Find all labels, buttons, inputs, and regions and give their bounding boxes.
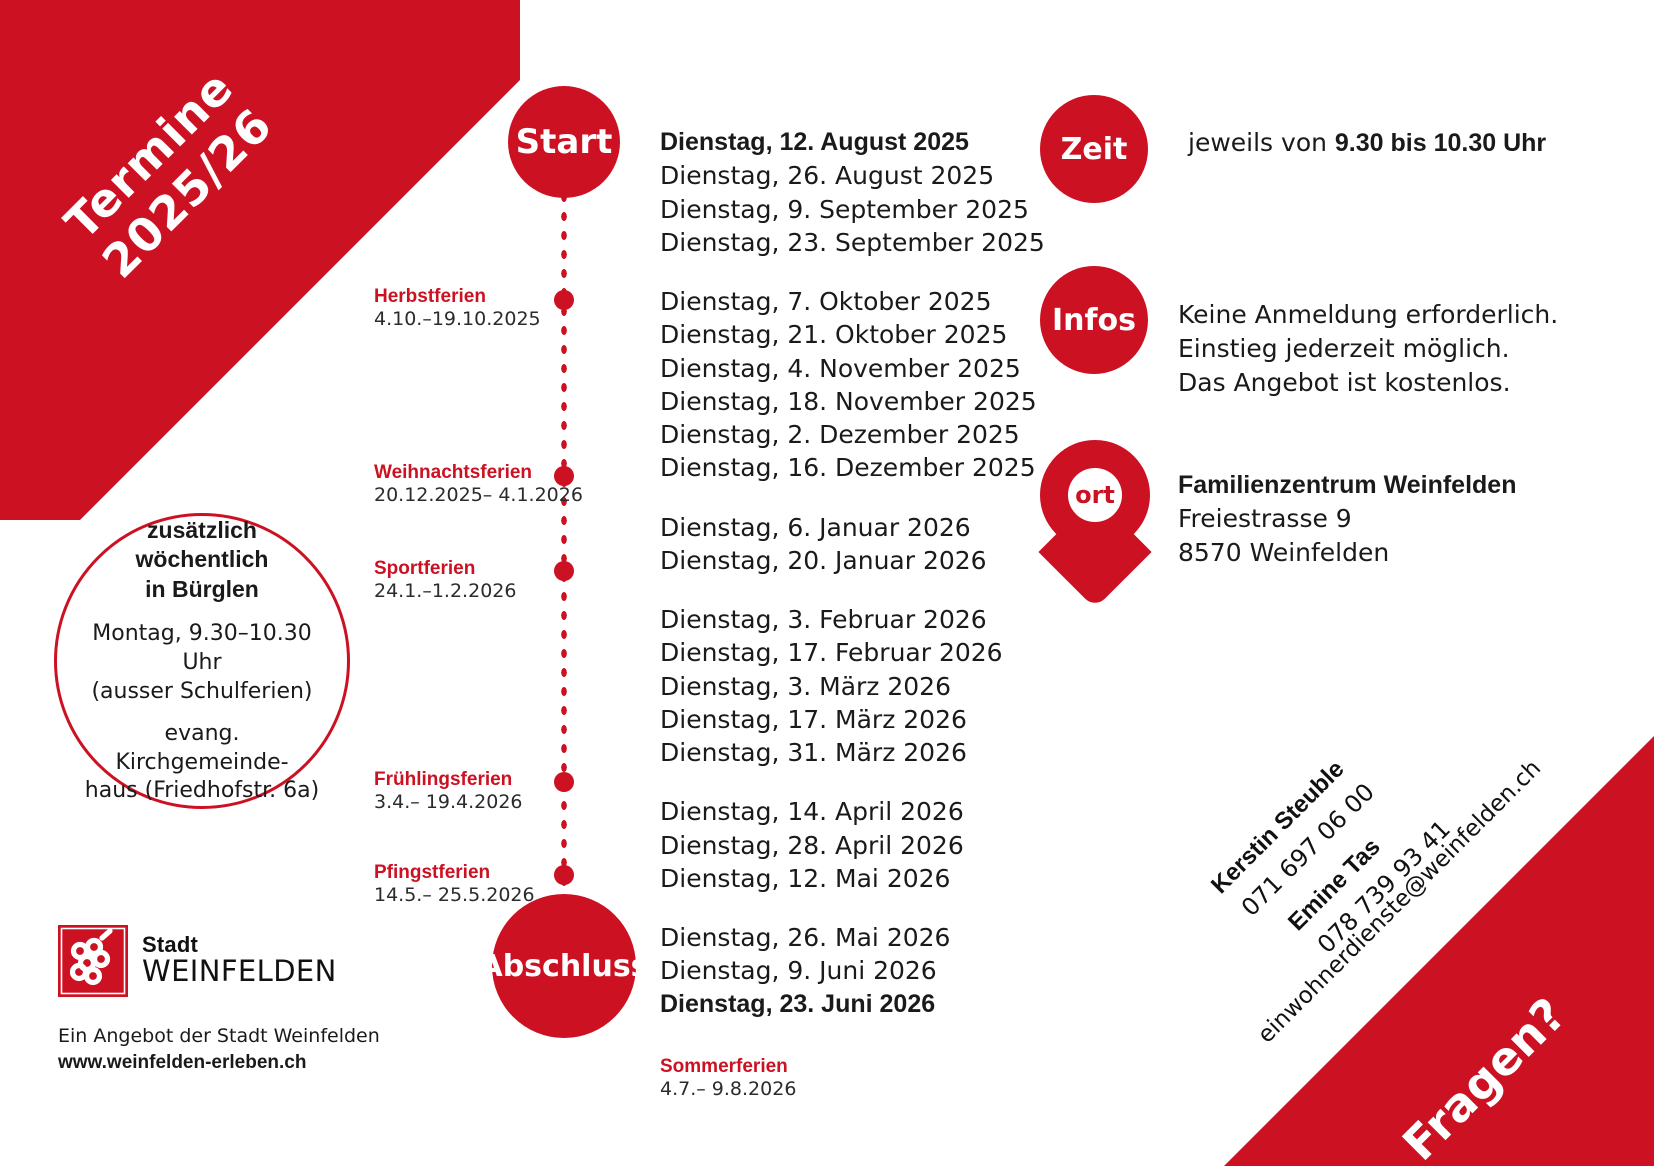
- logo-city-label: WEINFELDEN: [142, 956, 337, 988]
- date-item: Dienstag, 7. Oktober 2025: [660, 285, 1020, 318]
- top-left-corner-banner: Termine 2025/26: [0, 0, 520, 520]
- date-item: Dienstag, 31. März 2026: [660, 736, 1020, 769]
- date-group: Dienstag, 6. Januar 2026 Dienstag, 20. J…: [660, 511, 1020, 578]
- infos-line: Keine Anmeldung erforderlich.: [1178, 298, 1558, 332]
- grapes-icon: [58, 925, 128, 997]
- timeline-end-badge: Abschluss: [492, 894, 636, 1038]
- date-group: Dienstag, 26. Mai 2026 Dienstag, 9. Juni…: [660, 921, 1020, 1021]
- holiday-dates: 3.4.– 19.4.2026: [374, 791, 523, 813]
- ort-badge-label: ort: [1068, 468, 1122, 522]
- footer-offer-line: Ein Angebot der Stadt Weinfelden: [58, 1024, 380, 1050]
- infos-badge-label: Infos: [1052, 303, 1136, 338]
- date-item: Dienstag, 17. März 2026: [660, 703, 1020, 736]
- date-item: Dienstag, 23. Juni 2026: [660, 988, 1020, 1021]
- holiday-name: Sportferien: [374, 558, 516, 580]
- zeit-info-block: jeweils von 9.30 bis 10.30 Uhr: [1188, 126, 1546, 160]
- timeline-node-fruehlingsferien: [554, 772, 574, 792]
- holiday-sportferien: Sportferien 24.1.–1.2.2026: [374, 558, 516, 603]
- date-item: Dienstag, 16. Dezember 2025: [660, 451, 1020, 484]
- infos-badge: Infos: [1040, 266, 1148, 374]
- holiday-name: Frühlingsferien: [374, 769, 523, 791]
- date-item: Dienstag, 17. Februar 2026: [660, 636, 1020, 669]
- date-item: Dienstag, 3. Februar 2026: [660, 603, 1020, 636]
- buerglen-title-line: wöchentlich: [136, 545, 269, 574]
- date-item: Dienstag, 12. Mai 2026: [660, 862, 1020, 895]
- footer-website-link[interactable]: www.weinfelden-erleben.ch: [58, 1050, 380, 1076]
- buerglen-time-line: (ausser Schulferien): [91, 678, 312, 707]
- date-group: Dienstag, 12. August 2025 Dienstag, 26. …: [660, 126, 1020, 259]
- date-group: Dienstag, 3. Februar 2026 Dienstag, 17. …: [660, 603, 1020, 769]
- ort-street: Freiestrasse 9: [1178, 502, 1516, 536]
- date-item: Dienstag, 9. Juni 2026: [660, 954, 1020, 987]
- ort-city: 8570 Weinfelden: [1178, 536, 1516, 570]
- holiday-name: Herbstferien: [374, 286, 541, 308]
- zeit-value: 9.30 bis 10.30 Uhr: [1335, 129, 1546, 157]
- buerglen-venue-line: evang. Kirchgemeinde-: [75, 720, 329, 777]
- date-item: Dienstag, 26. August 2025: [660, 159, 1020, 192]
- holiday-name: Pfingstferien: [374, 862, 535, 884]
- date-item: Dienstag, 2. Dezember 2025: [660, 418, 1020, 451]
- timeline-start-label: Start: [516, 122, 613, 162]
- date-item: Dienstag, 23. September 2025: [660, 226, 1020, 259]
- buerglen-title-line: zusätzlich: [136, 516, 269, 545]
- buerglen-extra-offer-circle: zusätzlich wöchentlich in Bürglen Montag…: [54, 513, 350, 809]
- date-item: Dienstag, 3. März 2026: [660, 670, 1020, 703]
- date-item: Dienstag, 26. Mai 2026: [660, 921, 1020, 954]
- zeit-badge-label: Zeit: [1061, 132, 1128, 167]
- holiday-dates: 24.1.–1.2.2026: [374, 580, 516, 602]
- appointment-date-list: Dienstag, 12. August 2025 Dienstag, 26. …: [660, 126, 1020, 1047]
- date-item: Dienstag, 28. April 2026: [660, 829, 1020, 862]
- logo-wordmark: Stadt WEINFELDEN: [142, 934, 337, 988]
- timeline-node-herbstferien: [554, 290, 574, 310]
- timeline-start-badge: Start: [508, 86, 620, 198]
- holiday-name: Weihnachtsferien: [374, 462, 583, 484]
- date-group: Dienstag, 7. Oktober 2025 Dienstag, 21. …: [660, 285, 1020, 485]
- corner-wedge-shape: [1154, 706, 1654, 1166]
- city-logo: Stadt WEINFELDEN: [58, 925, 337, 997]
- date-item: Dienstag, 4. November 2025: [660, 352, 1020, 385]
- zeit-text: jeweils von 9.30 bis 10.30 Uhr: [1188, 126, 1546, 160]
- holiday-dates: 4.10.–19.10.2025: [374, 308, 541, 330]
- buerglen-title: zusätzlich wöchentlich in Bürglen: [136, 516, 269, 604]
- holiday-dates: 20.12.2025– 4.1.2026: [374, 484, 583, 506]
- date-group: Dienstag, 14. April 2026 Dienstag, 28. A…: [660, 795, 1020, 895]
- buerglen-title-line: in Bürglen: [136, 575, 269, 604]
- holiday-weihnachtsferien: Weihnachtsferien 20.12.2025– 4.1.2026: [374, 462, 583, 507]
- infos-info-block: Keine Anmeldung erforderlich. Einstieg j…: [1178, 298, 1558, 400]
- date-item: Dienstag, 9. September 2025: [660, 193, 1020, 226]
- footer-credits: Ein Angebot der Stadt Weinfelden www.wei…: [58, 1024, 380, 1076]
- location-pin-icon: ort: [1040, 440, 1150, 605]
- holiday-dates: 4.7.– 9.8.2026: [660, 1078, 796, 1100]
- holiday-herbstferien: Herbstferien 4.10.–19.10.2025: [374, 286, 541, 331]
- holiday-sommerferien: Sommerferien 4.7.– 9.8.2026: [660, 1056, 796, 1101]
- timeline-end-label: Abschluss: [479, 949, 648, 984]
- date-item: Dienstag, 20. Januar 2026: [660, 544, 1020, 577]
- date-item: Dienstag, 12. August 2025: [660, 126, 1020, 159]
- infos-line: Einstieg jederzeit möglich.: [1178, 332, 1558, 366]
- bottom-right-corner-banner: Fragen?: [1154, 706, 1654, 1166]
- ort-venue: Familienzentrum Weinfelden: [1178, 468, 1516, 502]
- holiday-name: Sommerferien: [660, 1056, 796, 1078]
- holiday-dates: 14.5.– 25.5.2026: [374, 884, 535, 906]
- date-item: Dienstag, 6. Januar 2026: [660, 511, 1020, 544]
- holiday-fruehlingsferien: Frühlingsferien 3.4.– 19.4.2026: [374, 769, 523, 814]
- zeit-prefix: jeweils von: [1188, 128, 1335, 157]
- buerglen-venue-line: haus (Friedhofstr. 6a): [85, 777, 319, 806]
- timeline-node-sportferien: [554, 561, 574, 581]
- infos-line: Das Angebot ist kostenlos.: [1178, 366, 1558, 400]
- poster-page: Termine 2025/26 Fragen? Start Abschluss …: [0, 0, 1654, 1166]
- timeline-node-pfingstferien: [554, 865, 574, 885]
- logo-stadt-label: Stadt: [142, 934, 337, 956]
- buerglen-time-line: Montag, 9.30–10.30 Uhr: [75, 620, 329, 677]
- date-item: Dienstag, 18. November 2025: [660, 385, 1020, 418]
- holiday-pfingstferien: Pfingstferien 14.5.– 25.5.2026: [374, 862, 535, 907]
- zeit-badge: Zeit: [1040, 95, 1148, 203]
- ort-info-block: Familienzentrum Weinfelden Freiestrasse …: [1178, 468, 1516, 570]
- date-item: Dienstag, 14. April 2026: [660, 795, 1020, 828]
- date-item: Dienstag, 21. Oktober 2025: [660, 318, 1020, 351]
